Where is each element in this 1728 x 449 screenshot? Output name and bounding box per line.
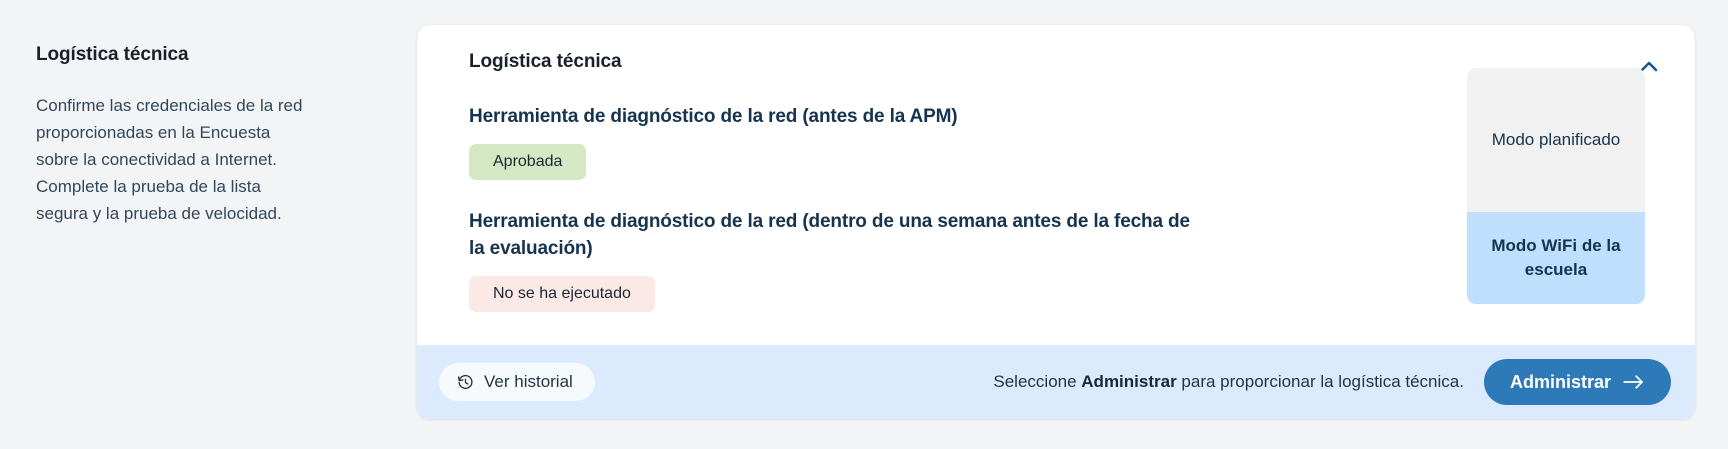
mode-option-label: Modo WiFi de la escuela [1481, 234, 1631, 282]
card-footer: Ver historial Seleccione Administrar par… [417, 345, 1695, 419]
technical-logistics-card: Logística técnica Herramienta de diagnós… [417, 25, 1695, 419]
status-badge: No se ha ejecutado [469, 276, 655, 312]
footer-instruction-prefix: Seleccione [993, 372, 1081, 391]
footer-instruction: Seleccione Administrar para proporcionar… [993, 372, 1464, 392]
manage-button-label: Administrar [1510, 372, 1611, 393]
manage-button[interactable]: Administrar [1484, 359, 1671, 405]
mode-selector: Modo planificado Modo WiFi de la escuela [1467, 68, 1645, 304]
section-intro-description: Confirme las credenciales de la red prop… [36, 92, 304, 227]
diagnostic-item-heading: Herramienta de diagnóstico de la red (an… [469, 103, 1229, 130]
footer-instruction-emphasis: Administrar [1081, 372, 1176, 391]
diagnostic-item-heading: Herramienta de diagnóstico de la red (de… [469, 208, 1209, 262]
view-history-label: Ver historial [484, 372, 573, 392]
footer-instruction-suffix: para proporcionar la logística técnica. [1177, 372, 1464, 391]
section-intro-title: Logística técnica [36, 44, 336, 66]
mode-option-label: Modo planificado [1492, 128, 1621, 152]
section-intro: Logística técnica Confirme las credencia… [36, 44, 336, 227]
page-root: Logística técnica Confirme las credencia… [0, 0, 1728, 449]
diagnostic-item: Herramienta de diagnóstico de la red (de… [469, 208, 1229, 312]
card-body: Logística técnica Herramienta de diagnós… [417, 25, 1695, 345]
history-clock-icon [457, 374, 474, 391]
mode-option-school-wifi[interactable]: Modo WiFi de la escuela [1467, 212, 1645, 304]
view-history-button[interactable]: Ver historial [439, 363, 595, 401]
status-badge: Aprobada [469, 144, 586, 180]
diagnostic-item: Herramienta de diagnóstico de la red (an… [469, 103, 1229, 180]
arrow-right-icon [1623, 374, 1645, 390]
mode-option-planned[interactable]: Modo planificado [1467, 68, 1645, 212]
card-title: Logística técnica [469, 51, 621, 73]
diagnostic-items-list: Herramienta de diagnóstico de la red (an… [469, 103, 1229, 312]
